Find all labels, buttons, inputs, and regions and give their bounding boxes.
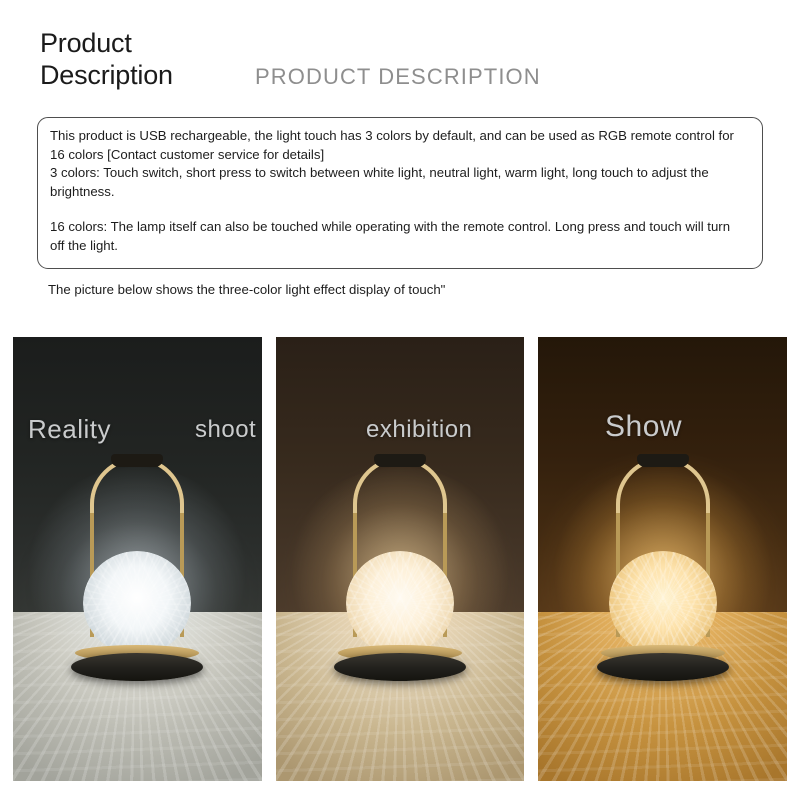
globe-cap <box>111 454 163 467</box>
page-title-line-2: Description <box>40 60 260 92</box>
light-effect-gallery <box>13 337 787 781</box>
white-light-panel <box>13 337 262 781</box>
lantern-lamp <box>597 457 729 683</box>
description-card: This product is USB rechargeable, the li… <box>37 117 763 269</box>
neutral-light-panel <box>276 337 525 781</box>
product-description-page: Product Description PRODUCT DESCRIPTION … <box>0 0 800 800</box>
description-paragraph-1: This product is USB rechargeable, the li… <box>50 127 748 164</box>
description-paragraph-2: 3 colors: Touch switch, short press to s… <box>50 164 748 201</box>
globe-facets <box>83 551 191 655</box>
globe-cap <box>374 454 426 467</box>
lamp-base-disc <box>71 653 203 681</box>
warm-light-panel <box>538 337 787 781</box>
crystal-globe <box>609 551 717 655</box>
lantern-lamp <box>334 457 466 683</box>
below-image-note: The picture below shows the three-color … <box>48 281 568 300</box>
page-subtitle: PRODUCT DESCRIPTION <box>255 64 541 90</box>
page-title: Product Description <box>40 28 260 92</box>
globe-facets <box>609 551 717 655</box>
crystal-globe <box>346 551 454 655</box>
description-paragraph-3: 16 colors: The lamp itself can also be t… <box>50 218 748 255</box>
page-title-line-1: Product <box>40 28 260 60</box>
lamp-base-disc <box>334 653 466 681</box>
lantern-lamp <box>71 457 203 683</box>
crystal-globe <box>83 551 191 655</box>
globe-facets <box>346 551 454 655</box>
globe-cap <box>637 454 689 467</box>
lamp-base-disc <box>597 653 729 681</box>
